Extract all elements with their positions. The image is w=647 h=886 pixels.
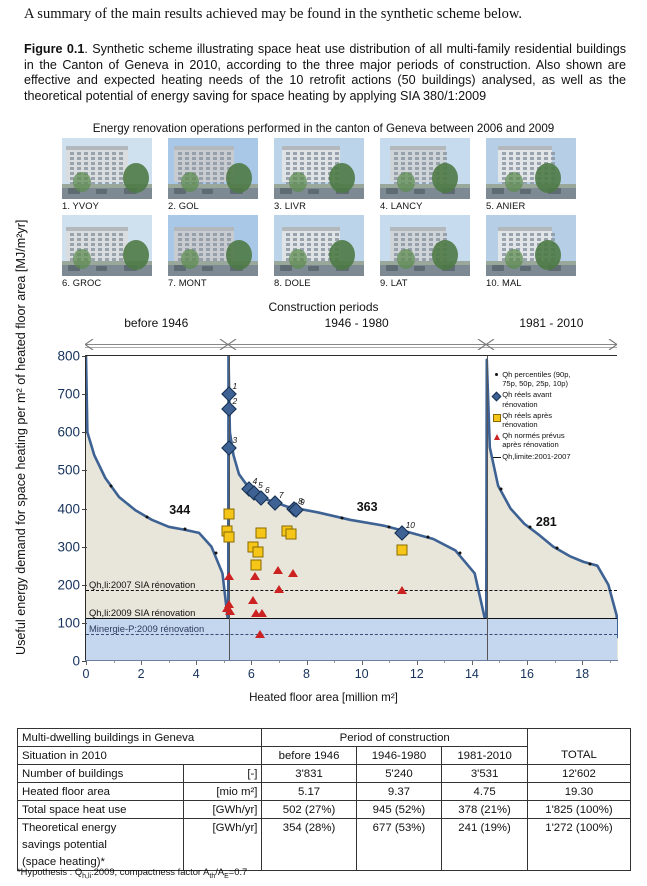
marker-after-renovation bbox=[256, 528, 267, 539]
threshold-label: Qh,li:2009 SIA rénovation bbox=[89, 607, 195, 618]
building-photo bbox=[486, 138, 576, 199]
table-cell: 354 (28%) bbox=[262, 819, 356, 837]
legend-marker-dot bbox=[491, 370, 502, 376]
figure-label: Figure 0.1 bbox=[24, 42, 84, 56]
building-photo bbox=[274, 215, 364, 276]
figure-caption-text: . Synthetic scheme illustrating space he… bbox=[24, 42, 626, 103]
curve-value-label: 363 bbox=[357, 500, 378, 514]
y-tick-mark bbox=[82, 509, 87, 510]
legend-label: Qh réels après rénovation bbox=[502, 411, 583, 429]
percentile-dot bbox=[589, 562, 592, 565]
table-row-label: Theoretical energy bbox=[18, 819, 184, 837]
gallery-item[interactable]: 6. GROC bbox=[62, 215, 152, 288]
marker-after-renovation bbox=[223, 509, 234, 520]
table-row-unit: [GWh/yr] bbox=[183, 801, 262, 819]
y-tick-label: 700 bbox=[57, 387, 80, 402]
footnote-t2: :2009, compactness factor A bbox=[91, 866, 209, 877]
gallery-item-caption: 1. YVOY bbox=[62, 200, 152, 211]
curve-value-label: 281 bbox=[536, 515, 557, 529]
x-tick-label: 16 bbox=[520, 667, 534, 681]
legend-marker-triangle bbox=[491, 431, 502, 440]
legend-item: Qh réels après rénovation bbox=[491, 411, 583, 429]
gallery-item-caption: 4. LANCY bbox=[380, 200, 470, 211]
period-label: before 1946 bbox=[85, 316, 228, 330]
y-tick-mark bbox=[82, 547, 87, 548]
plot-area: 0100200300400500600700800 02468101214161… bbox=[85, 355, 617, 660]
marker-index-label: 1 bbox=[233, 381, 238, 391]
marker-normed-expected bbox=[288, 569, 298, 577]
table-row: Number of buildings[-]3'8315'2403'53112'… bbox=[18, 765, 631, 783]
period-label: 1946 - 1980 bbox=[228, 316, 486, 330]
gallery-row: 1. YVOY2. GOL3. LIVR4. LANCY5. ANIER bbox=[62, 138, 584, 211]
table-subheader-left: Situation in 2010 bbox=[18, 747, 262, 765]
marker-normed-expected bbox=[257, 609, 267, 617]
table-header-spacer bbox=[527, 729, 630, 747]
table-cell: 4.75 bbox=[442, 783, 528, 801]
table-row-label: Number of buildings bbox=[18, 765, 184, 783]
gallery-item-caption: 5. ANIER bbox=[486, 200, 576, 211]
table-cell: 3'531 bbox=[442, 765, 528, 783]
threshold-label: Minergie-P:2009 rénovation bbox=[89, 623, 204, 634]
marker-after-renovation bbox=[286, 529, 297, 540]
table-cell: 1'272 (100%) bbox=[527, 819, 630, 837]
marker-normed-expected bbox=[224, 572, 234, 580]
table-cell bbox=[527, 853, 630, 871]
y-tick-label: 400 bbox=[57, 501, 80, 516]
footnote-t4: =0.7 bbox=[229, 866, 248, 877]
gallery-item[interactable]: 2. GOL bbox=[168, 138, 258, 211]
y-tick-mark bbox=[82, 356, 87, 357]
y-tick-mark bbox=[82, 585, 87, 586]
legend-item: Qh réels avant rénovation bbox=[491, 390, 583, 408]
marker-index-label: 6 bbox=[265, 485, 270, 495]
footnote-t3: /A bbox=[215, 866, 224, 877]
marker-index-label: 10 bbox=[406, 520, 415, 530]
table-cell bbox=[442, 853, 528, 871]
table-cell: 378 (21%) bbox=[442, 801, 528, 819]
marker-after-renovation bbox=[224, 532, 235, 543]
y-tick-label: 0 bbox=[72, 654, 80, 669]
x-tick-label: 18 bbox=[575, 667, 589, 681]
table-cell: 1'825 (100%) bbox=[527, 801, 630, 819]
table-header-row: Multi-dwelling buildings in GenevaPeriod… bbox=[18, 729, 631, 747]
y-tick-mark bbox=[82, 470, 87, 471]
table-row-label: savings potential bbox=[18, 836, 184, 853]
marker-normed-expected bbox=[250, 572, 260, 580]
gallery-item-caption: 3. LIVR bbox=[274, 200, 364, 211]
building-photo bbox=[168, 215, 258, 276]
x-tick-label: 4 bbox=[193, 667, 200, 681]
gallery-item[interactable]: 8. DOLE bbox=[274, 215, 364, 288]
table-row-label: Total space heat use bbox=[18, 801, 184, 819]
table-cell bbox=[356, 836, 442, 853]
gallery-item[interactable]: 7. MONT bbox=[168, 215, 258, 288]
x-axis-line bbox=[85, 660, 618, 661]
threshold-line bbox=[86, 618, 617, 619]
marker-normed-expected bbox=[255, 630, 265, 638]
legend-label: Qh normés prévus après rénovation bbox=[502, 431, 583, 449]
table-cell bbox=[527, 836, 630, 853]
x-tick-label: 10 bbox=[355, 667, 369, 681]
y-tick-mark bbox=[82, 394, 87, 395]
table-column-header: before 1946 bbox=[262, 747, 356, 765]
legend-item: Qh normés prévus après rénovation bbox=[491, 431, 583, 449]
footnote-s1: h,li bbox=[82, 873, 91, 880]
y-tick-label: 800 bbox=[57, 349, 80, 364]
footnote-t1: *Hypothesis : Q bbox=[17, 866, 82, 877]
legend-item: Qh,limite:2001-2007 bbox=[491, 452, 583, 461]
table-row: Theoretical energy[GWh/yr]354 (28%)677 (… bbox=[18, 819, 631, 837]
gallery-item-caption: 8. DOLE bbox=[274, 277, 364, 288]
table-cell bbox=[442, 836, 528, 853]
building-photo bbox=[168, 138, 258, 199]
table-subheader-row: Situation in 2010before 19461946-1980198… bbox=[18, 747, 631, 765]
marker-normed-expected bbox=[397, 586, 407, 594]
footnote: *Hypothesis : Qh,li:2009, compactness fa… bbox=[17, 866, 247, 880]
y-axis-title: Useful energy demand for space heating p… bbox=[14, 325, 28, 655]
y-tick-mark bbox=[82, 432, 87, 433]
table-cell: 241 (19%) bbox=[442, 819, 528, 837]
chart-legend: Qh percentiles (90p, 75p, 50p, 25p, 10p)… bbox=[491, 370, 583, 463]
period-range-arrow bbox=[228, 339, 486, 350]
x-tick-label: 14 bbox=[465, 667, 479, 681]
gallery-item-caption: 10. MAL bbox=[486, 277, 576, 288]
marker-normed-expected bbox=[248, 596, 258, 604]
building-photo bbox=[380, 138, 470, 199]
gallery-item-caption: 7. MONT bbox=[168, 277, 258, 288]
gallery-item[interactable]: 4. LANCY bbox=[380, 138, 470, 211]
period-divider bbox=[487, 356, 488, 660]
curve-value-label: 344 bbox=[169, 503, 190, 517]
y-tick-label: 100 bbox=[57, 615, 80, 630]
table-cell bbox=[356, 853, 442, 871]
table-cell: 9.37 bbox=[356, 783, 442, 801]
table-cell: 12'602 bbox=[527, 765, 630, 783]
legend-label: Qh,limite:2001-2007 bbox=[502, 452, 583, 461]
threshold-label: Qh,li:2007 SIA rénovation bbox=[89, 579, 195, 590]
intro-paragraph: A summary of the main results achieved m… bbox=[24, 6, 624, 23]
legend-marker-square bbox=[491, 411, 502, 422]
photo-gallery: 1. YVOY2. GOL3. LIVR4. LANCY5. ANIER6. G… bbox=[62, 138, 584, 292]
synthetic-scheme-chart: Construction periods before 19461946 - 1… bbox=[0, 300, 647, 710]
period-label: 1981 - 2010 bbox=[486, 316, 617, 330]
table-cell: 19.30 bbox=[527, 783, 630, 801]
marker-index-label: 7 bbox=[279, 490, 284, 500]
marker-index-label: 3 bbox=[233, 435, 238, 445]
table-column-header: 1981-2010 bbox=[442, 747, 528, 765]
x-tick-label: 12 bbox=[410, 667, 424, 681]
building-photo bbox=[62, 138, 152, 199]
table-row: Heated floor area[mio m²]5.179.374.7519.… bbox=[18, 783, 631, 801]
table-header-center: Period of construction bbox=[262, 729, 527, 747]
table-column-header-total: TOTAL bbox=[527, 747, 630, 765]
percentile-dot bbox=[214, 552, 217, 555]
table-cell: 3'831 bbox=[262, 765, 356, 783]
marker-after-renovation bbox=[250, 559, 261, 570]
y-tick-label: 500 bbox=[57, 463, 80, 478]
gallery-item[interactable]: 3. LIVR bbox=[274, 138, 364, 211]
building-photo bbox=[380, 215, 470, 276]
chart-title: Construction periods bbox=[0, 300, 647, 314]
percentile-dot bbox=[388, 525, 391, 528]
table-header-left: Multi-dwelling buildings in Geneva bbox=[18, 729, 262, 747]
marker-after-renovation bbox=[253, 547, 264, 558]
x-tick-label: 2 bbox=[138, 667, 145, 681]
table-cell: 945 (52%) bbox=[356, 801, 442, 819]
gallery-item[interactable]: 10. MAL bbox=[486, 215, 576, 288]
legend-label: Qh réels avant rénovation bbox=[502, 390, 583, 408]
x-tick-label: 8 bbox=[303, 667, 310, 681]
y-tick-label: 300 bbox=[57, 539, 80, 554]
percentile-dot bbox=[556, 547, 559, 550]
percentile-dot bbox=[426, 536, 429, 539]
percentile-dot bbox=[341, 517, 344, 520]
summary-table-wrapper: Multi-dwelling buildings in GenevaPeriod… bbox=[17, 728, 631, 871]
gallery-item-caption: 9. LAT bbox=[380, 277, 470, 288]
threshold-line bbox=[86, 634, 617, 635]
table-row-unit: [-] bbox=[183, 765, 262, 783]
x-tick-label: 6 bbox=[248, 667, 255, 681]
period-range-arrow bbox=[486, 339, 617, 350]
building-photo bbox=[62, 215, 152, 276]
percentile-dot bbox=[499, 487, 502, 490]
percentile-dot bbox=[184, 528, 187, 531]
table-cell: 5'240 bbox=[356, 765, 442, 783]
table-cell: 502 (27%) bbox=[262, 801, 356, 819]
gallery-item-caption: 6. GROC bbox=[62, 277, 152, 288]
marker-index-label: 5 bbox=[258, 480, 263, 490]
summary-table: Multi-dwelling buildings in GenevaPeriod… bbox=[17, 728, 631, 871]
legend-marker-line bbox=[491, 452, 502, 458]
marker-index-label: 9 bbox=[300, 497, 305, 507]
table-row-unit: [mio m²] bbox=[183, 783, 262, 801]
threshold-line bbox=[86, 590, 617, 591]
gallery-item-caption: 2. GOL bbox=[168, 200, 258, 211]
gallery-row: 6. GROC7. MONT8. DOLE9. LAT10. MAL bbox=[62, 215, 584, 288]
period-range-arrow bbox=[85, 339, 228, 350]
marker-normed-expected bbox=[273, 566, 283, 574]
marker-after-renovation bbox=[396, 545, 407, 556]
percentile-dot bbox=[528, 525, 531, 528]
x-axis-title: Heated floor area [million m²] bbox=[0, 691, 647, 704]
gallery-title: Energy renovation operations performed i… bbox=[0, 122, 647, 135]
table-cell: 5.17 bbox=[262, 783, 356, 801]
table-row-unit bbox=[183, 836, 262, 853]
gallery-item[interactable]: 9. LAT bbox=[380, 215, 470, 288]
table-row: Total space heat use[GWh/yr]502 (27%)945… bbox=[18, 801, 631, 819]
table-row: savings potential bbox=[18, 836, 631, 853]
figure-page: A summary of the main results achieved m… bbox=[0, 0, 647, 886]
gallery-item[interactable]: 1. YVOY bbox=[62, 138, 152, 211]
legend-marker-diamond bbox=[491, 390, 502, 400]
table-cell bbox=[262, 836, 356, 853]
table-cell bbox=[262, 853, 356, 871]
y-tick-mark bbox=[82, 623, 87, 624]
percentile-dot bbox=[458, 552, 461, 555]
marker-normed-expected bbox=[225, 607, 235, 615]
legend-label: Qh percentiles (90p, 75p, 50p, 25p, 10p) bbox=[502, 370, 583, 388]
gallery-item[interactable]: 5. ANIER bbox=[486, 138, 576, 211]
table-row-unit: [GWh/yr] bbox=[183, 819, 262, 837]
marker-index-label: 2 bbox=[233, 396, 238, 406]
percentile-dot bbox=[109, 484, 112, 487]
building-photo bbox=[486, 215, 576, 276]
x-tick-label: 0 bbox=[83, 667, 90, 681]
percentile-dot bbox=[145, 515, 148, 518]
table-cell: 677 (53%) bbox=[356, 819, 442, 837]
table-column-header: 1946-1980 bbox=[356, 747, 442, 765]
legend-item: Qh percentiles (90p, 75p, 50p, 25p, 10p) bbox=[491, 370, 583, 388]
table-row-label: Heated floor area bbox=[18, 783, 184, 801]
y-tick-label: 600 bbox=[57, 425, 80, 440]
y-tick-label: 200 bbox=[57, 577, 80, 592]
building-photo bbox=[274, 138, 364, 199]
figure-caption: Figure 0.1. Synthetic scheme illustratin… bbox=[24, 42, 626, 104]
marker-normed-expected bbox=[274, 585, 284, 593]
